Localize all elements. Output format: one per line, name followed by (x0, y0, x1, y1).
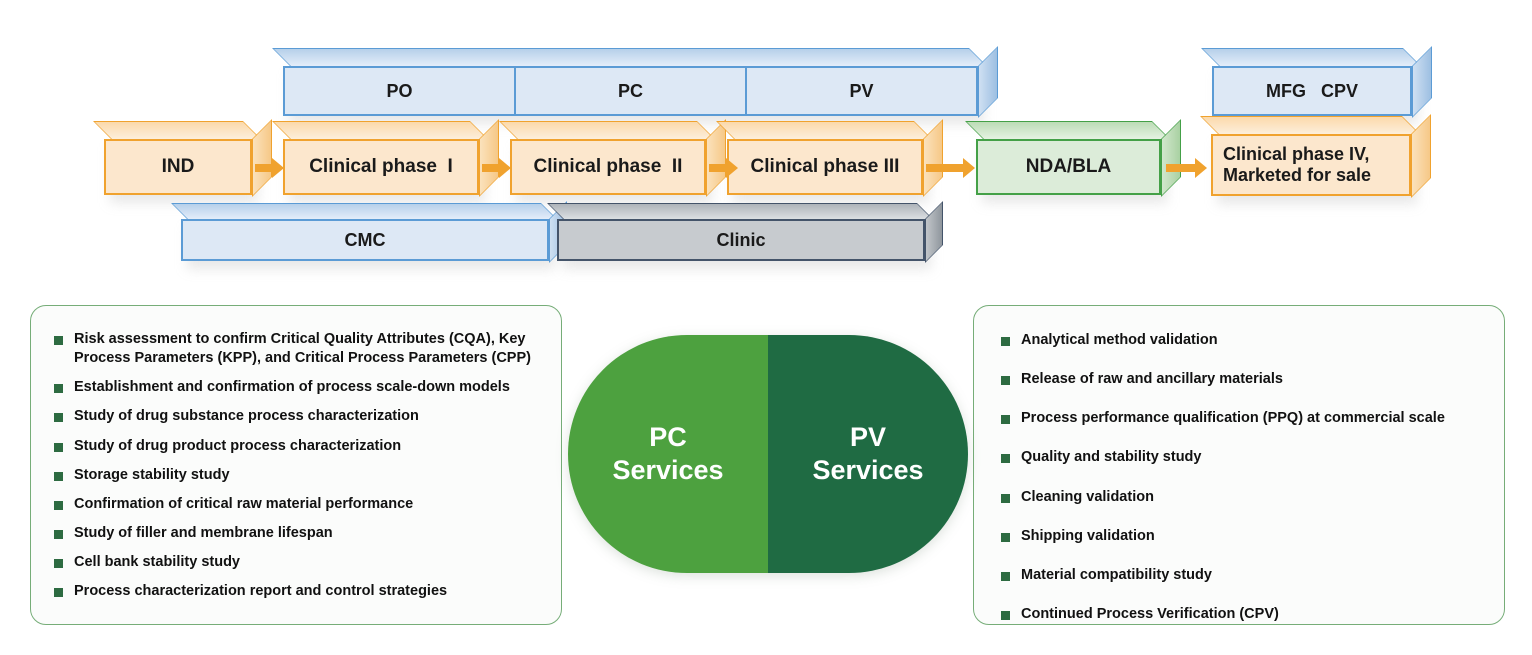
block-top-bevel (1200, 116, 1422, 136)
block-top-bevel (272, 48, 989, 68)
pv-services-pill-line2: Services (812, 454, 923, 487)
list-item[interactable]: Study of drug substance process characte… (54, 407, 554, 426)
cmc-bar[interactable]: CMC (181, 219, 549, 261)
list-item-label: Release of raw and ancillary materials (1021, 370, 1283, 389)
step-clinical-phase-1-label: Clinical phase I (309, 156, 453, 178)
segment-pv-label: PV (849, 81, 873, 102)
bullet-square-icon (54, 413, 63, 422)
clinic-bar[interactable]: Clinic (557, 219, 925, 261)
step-ind-face: IND (104, 139, 252, 195)
list-item-label: Study of drug product process characteri… (74, 437, 401, 456)
list-item[interactable]: Confirmation of critical raw material pe… (54, 495, 554, 514)
segment-pv[interactable]: PV (745, 68, 976, 114)
bullet-square-icon (54, 588, 63, 597)
step-ind-label: IND (162, 156, 195, 178)
bullet-square-icon (1001, 572, 1010, 581)
step-clinical-phase-3-label: Clinical phase III (751, 156, 900, 178)
step-clinical-phase-3[interactable]: Clinical phase III (727, 139, 923, 195)
segment-pc[interactable]: PC (514, 68, 745, 114)
bar-face: PO PC PV (283, 66, 978, 116)
bullet-square-icon (54, 559, 63, 568)
list-item[interactable]: Analytical method validation (1001, 331, 1501, 350)
step-clinical-phase-4-face: Clinical phase IV, Marketed for sale (1211, 134, 1411, 196)
bullet-square-icon (1001, 611, 1010, 620)
block-top-bevel (965, 121, 1172, 141)
arrow-nda-to-ph4 (1166, 164, 1196, 172)
bullet-square-icon (1001, 494, 1010, 503)
bullet-square-icon (1001, 415, 1010, 424)
list-item-label: Establishment and confirmation of proces… (74, 378, 510, 397)
list-item-label: Material compatibility study (1021, 566, 1212, 585)
list-item[interactable]: Shipping validation (1001, 527, 1501, 546)
arrow-ph3-to-nda (926, 164, 964, 172)
bullet-square-icon (1001, 337, 1010, 346)
list-item[interactable]: Release of raw and ancillary materials (1001, 370, 1501, 389)
block-side-bevel (252, 119, 272, 197)
segment-pc-label: PC (618, 81, 643, 102)
step-clinical-phase-2-label: Clinical phase II (534, 156, 683, 178)
list-item-label: Continued Process Verification (CPV) (1021, 605, 1279, 624)
list-item-label: Study of drug substance process characte… (74, 407, 419, 426)
block-side-bevel (923, 119, 943, 197)
mfg-cpv-label: MFG CPV (1266, 81, 1358, 102)
list-item-label: Quality and stability study (1021, 448, 1201, 467)
step-nda-bla[interactable]: NDA/BLA (976, 139, 1161, 195)
step-clinical-phase-1[interactable]: Clinical phase I (283, 139, 479, 195)
pc-services-pill-half[interactable]: PC Services (568, 335, 768, 573)
step-clinical-phase-2-face: Clinical phase II (510, 139, 706, 195)
pv-services-pill-half[interactable]: PV Services (768, 335, 968, 573)
list-item[interactable]: Material compatibility study (1001, 566, 1501, 585)
list-item[interactable]: Continued Process Verification (CPV) (1001, 605, 1501, 624)
mfg-cpv-bar: MFG CPV (1212, 66, 1412, 116)
block-side-bevel (978, 46, 998, 118)
list-item[interactable]: Storage stability study (54, 466, 554, 485)
segment-po-label: PO (386, 81, 412, 102)
bullet-square-icon (54, 472, 63, 481)
list-item-label: Analytical method validation (1021, 331, 1218, 350)
block-side-bevel (706, 119, 726, 197)
mfg-cpv-face: MFG CPV (1212, 66, 1412, 116)
diagram-canvas: PO PC PV MFG CPV IND Cli (0, 0, 1532, 655)
block-side-bevel (479, 119, 499, 197)
bullet-square-icon (54, 384, 63, 393)
bullet-square-icon (1001, 454, 1010, 463)
list-item[interactable]: Study of filler and membrane lifespan (54, 524, 554, 543)
list-item-label: Cleaning validation (1021, 488, 1154, 507)
list-item[interactable]: Cleaning validation (1001, 488, 1501, 507)
bullet-square-icon (1001, 533, 1010, 542)
block-side-bevel (925, 201, 943, 263)
list-item-label: Shipping validation (1021, 527, 1155, 546)
block-top-bevel (93, 121, 263, 141)
segment-po[interactable]: PO (285, 68, 514, 114)
list-item[interactable]: Establishment and confirmation of proces… (54, 378, 554, 397)
arrow-ph1-to-ph2 (482, 164, 500, 172)
pc-services-list: Risk assessment to confirm Critical Qual… (54, 330, 554, 611)
clinic-bar-face: Clinic (557, 219, 925, 261)
block-side-bevel (1411, 114, 1431, 198)
list-item-label: Study of filler and membrane lifespan (74, 524, 333, 543)
step-nda-bla-label: NDA/BLA (1026, 156, 1112, 178)
list-item[interactable]: Quality and stability study (1001, 448, 1501, 467)
block-top-bevel (1201, 48, 1423, 68)
bullet-square-icon (54, 530, 63, 539)
pv-services-list: Analytical method validation Release of … (1001, 331, 1501, 624)
arrow-ph2-to-ph3 (709, 164, 727, 172)
arrow-ind-to-ph1 (255, 164, 273, 172)
pv-services-pill-line1: PV (850, 421, 886, 454)
block-side-bevel (1412, 46, 1432, 118)
block-side-bevel (1161, 119, 1181, 197)
list-item-label: Storage stability study (74, 466, 230, 485)
step-clinical-phase-4-label: Clinical phase IV, Marketed for sale (1223, 144, 1371, 186)
bullet-square-icon (54, 336, 63, 345)
clinic-bar-label: Clinic (716, 230, 765, 251)
list-item[interactable]: Study of drug product process characteri… (54, 437, 554, 456)
pc-services-pill-line2: Services (612, 454, 723, 487)
pc-services-pill-line1: PC (649, 421, 687, 454)
list-item-label: Confirmation of critical raw material pe… (74, 495, 413, 514)
list-item-label: Cell bank stability study (74, 553, 240, 572)
step-clinical-phase-2[interactable]: Clinical phase II (510, 139, 706, 195)
services-pill: PC Services PV Services (568, 335, 968, 573)
cmc-bar-face: CMC (181, 219, 549, 261)
step-nda-bla-face: NDA/BLA (976, 139, 1161, 195)
bullet-square-icon (54, 443, 63, 452)
step-clinical-phase-4[interactable]: Clinical phase IV, Marketed for sale (1211, 134, 1411, 196)
list-item-label: Risk assessment to confirm Critical Qual… (74, 330, 548, 368)
step-ind[interactable]: IND (104, 139, 252, 195)
block-top-bevel (716, 121, 934, 141)
step-clinical-phase-1-face: Clinical phase I (283, 139, 479, 195)
list-item[interactable]: Process characterization report and cont… (54, 582, 554, 601)
bullet-square-icon (1001, 376, 1010, 385)
po-pc-pv-bar: PO PC PV (283, 66, 978, 116)
list-item[interactable]: Cell bank stability study (54, 553, 554, 572)
list-item[interactable]: Process performance qualification (PPQ) … (1001, 409, 1501, 428)
list-item[interactable]: Risk assessment to confirm Critical Qual… (54, 330, 554, 368)
cmc-bar-label: CMC (345, 230, 386, 251)
bullet-square-icon (54, 501, 63, 510)
step-clinical-phase-3-face: Clinical phase III (727, 139, 923, 195)
list-item-label: Process performance qualification (PPQ) … (1021, 409, 1445, 428)
list-item-label: Process characterization report and cont… (74, 582, 447, 601)
block-top-bevel (272, 121, 490, 141)
block-top-bevel (499, 121, 717, 141)
